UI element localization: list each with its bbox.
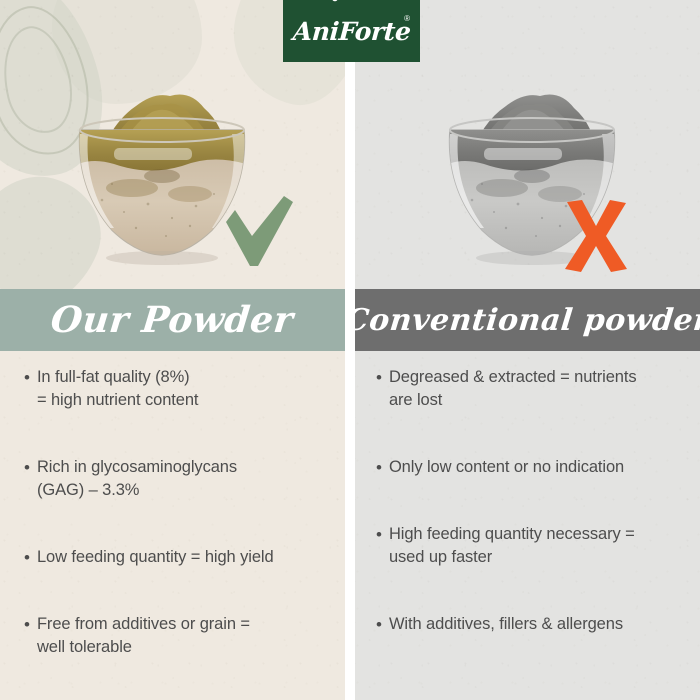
bullet-marker: • — [376, 456, 382, 479]
list-item: • Rich in glycosaminoglycans (GAG) – 3.3… — [24, 456, 342, 502]
list-item: • Degreased & extracted = nutrients are … — [376, 366, 688, 412]
list-item-text: High feeding quantity necessary = used u… — [389, 523, 635, 569]
bullet-marker: • — [376, 523, 382, 546]
list-item: • High feeding quantity necessary = used… — [376, 523, 688, 569]
logo-wordmark: AniForte — [292, 17, 412, 46]
list-item: • Only low content or no indication — [376, 456, 688, 479]
bullet-marker: • — [376, 366, 382, 389]
bullet-marker: • — [24, 456, 30, 479]
registered-trademark-symbol: ® — [404, 14, 410, 23]
list-item: • In full-fat quality (8%) = high nutrie… — [24, 366, 342, 412]
aniforte-logo: AniForte ® — [283, 0, 420, 62]
list-item: • Low feeding quantity = high yield — [24, 546, 342, 569]
list-item: • With additives, fillers & allergens — [376, 613, 688, 636]
product-comparison-infographic: AniForte ® Our Powder Conventional powde… — [0, 0, 700, 700]
check-mark-icon — [222, 196, 294, 272]
list-item-text: Only low content or no indication — [389, 456, 624, 479]
right-drawbacks-list: • Degreased & extracted = nutrients are … — [376, 366, 688, 680]
bullet-marker: • — [24, 546, 30, 569]
list-item-text: Degreased & extracted = nutrients are lo… — [389, 366, 637, 412]
left-banner-title: Our Powder — [49, 299, 296, 341]
list-item-text: Free from additives or grain = well tole… — [37, 613, 250, 659]
cross-mark-icon — [560, 200, 632, 272]
list-item-text: Rich in glycosaminoglycans (GAG) – 3.3% — [37, 456, 237, 502]
list-item: • Free from additives or grain = well to… — [24, 613, 342, 659]
list-item-text: In full-fat quality (8%) = high nutrient… — [37, 366, 198, 412]
bullet-marker: • — [376, 613, 382, 636]
right-banner-title: Conventional powder — [343, 303, 700, 338]
bullet-marker: • — [24, 366, 30, 389]
bullet-marker: • — [24, 613, 30, 636]
left-title-banner: Our Powder — [0, 289, 345, 351]
left-benefits-list: • In full-fat quality (8%) = high nutrie… — [24, 366, 342, 700]
center-divider — [345, 0, 355, 700]
list-item-text: With additives, fillers & allergens — [389, 613, 623, 636]
list-item-text: Low feeding quantity = high yield — [37, 546, 274, 569]
right-title-banner: Conventional powder — [355, 289, 700, 351]
paw-print-icon — [330, 0, 341, 2]
